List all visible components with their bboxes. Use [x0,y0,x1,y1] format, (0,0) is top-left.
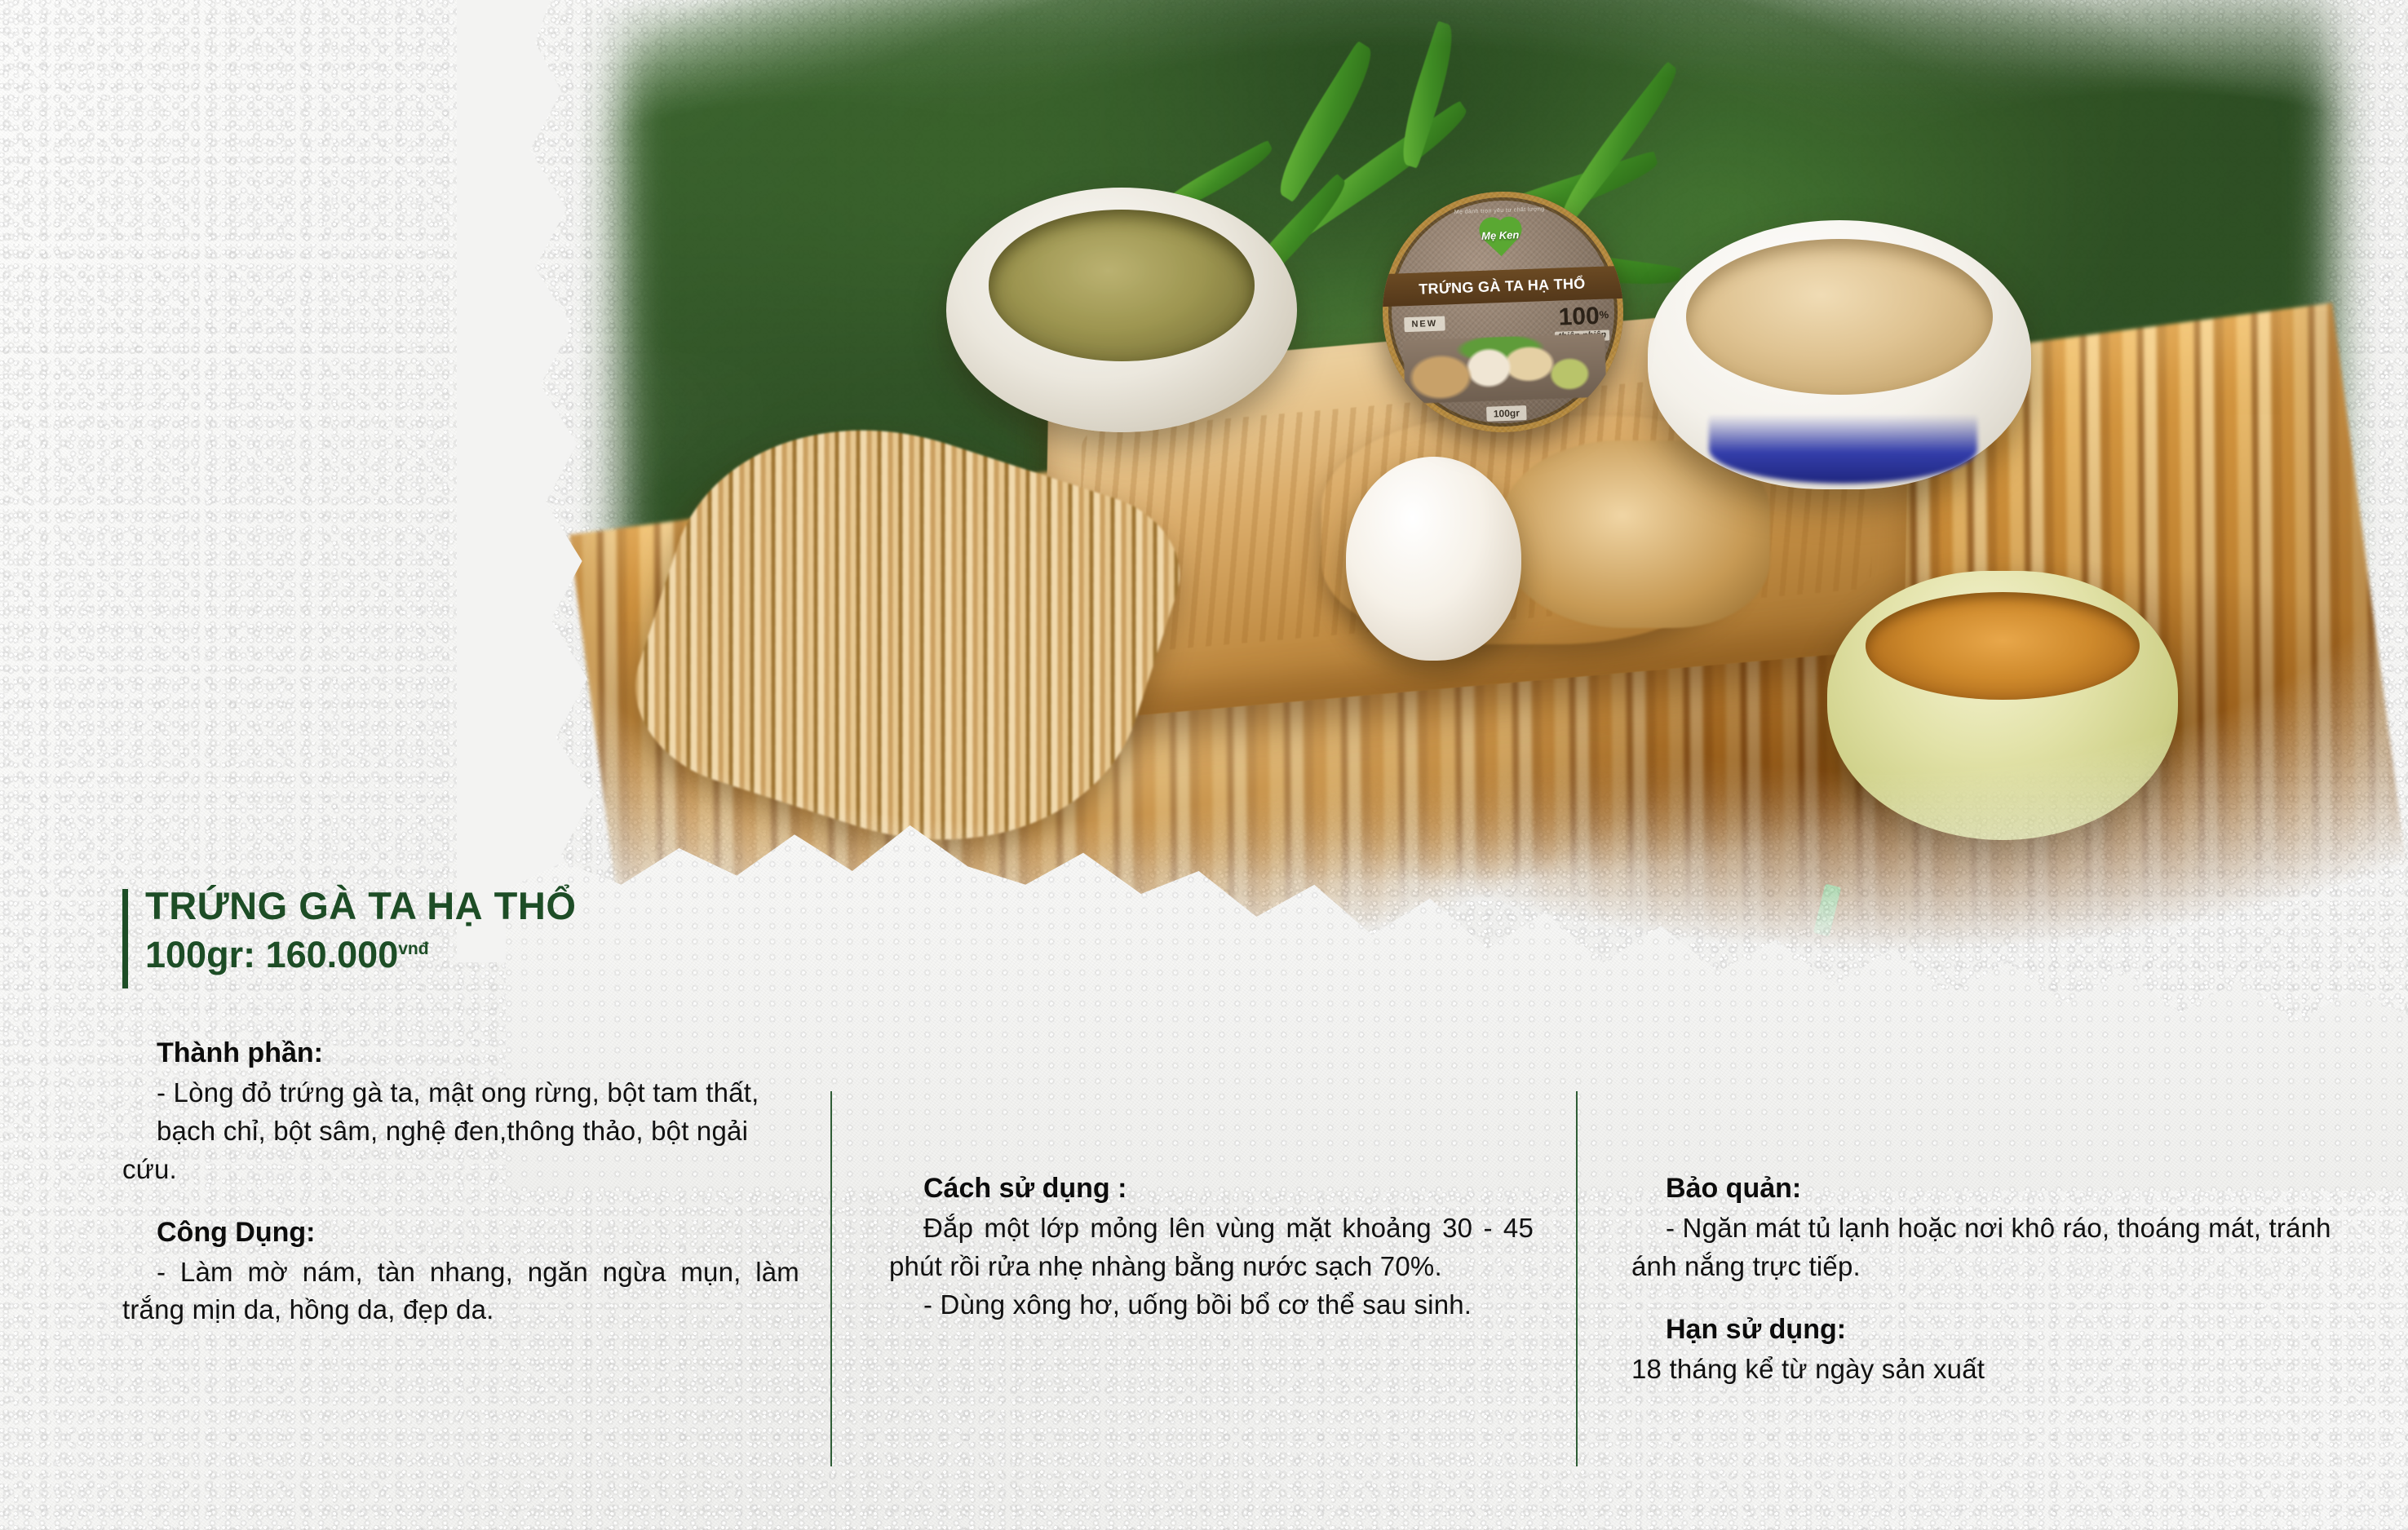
price-value: 100gr: 160.000 [145,934,398,975]
title-accent-bar [122,889,128,988]
tin-ingredient-photo [1403,334,1607,405]
benefits-line-1: - Làm mờ nám, tàn nhang, ngăn ngừa mụn, … [122,1254,799,1330]
tin-product-name: TRỨNG GÀ TA HẠ THỔ [1419,275,1586,298]
expiry-line-1: 18 tháng kể từ ngày sản xuất [1631,1351,2349,1389]
product-tin: Mẹ dành trọn yêu tư chất lượng Mẹ Ken TR… [1379,188,1627,436]
honey-jade-bowl [1827,571,2178,840]
tin-natural-number: 100 [1558,303,1600,331]
storage-line-1: - Ngăn mát tủ lạnh hoặc nơi khô ráo, tho… [1631,1209,2349,1286]
column-divider-left [830,1091,832,1466]
column-usage: Cách sử dụng : Đắp một lớp mỏng lên vùng… [889,1173,1534,1324]
column-storage-expiry: Bảo quản: - Ngăn mát tủ lạnh hoặc nơi kh… [1631,1173,2349,1389]
ingredients-line-2: bạch chỉ, bột sâm, nghệ đen,thông thảo, … [122,1112,799,1189]
usage-line-1: Đắp một lớp mỏng lên vùng mặt khoảng 30 … [889,1209,1534,1286]
storage-heading: Bảo quản: [1666,1173,2349,1205]
white-egg [1346,457,1521,661]
product-price: 100gr: 160.000vnđ [145,934,576,976]
tan-powder-bowl [1648,220,2031,489]
tin-new-badge: NEW [1404,316,1445,333]
benefits-heading: Công Dụng: [157,1217,799,1249]
section-spacer [122,1189,799,1217]
column-divider-right [1576,1091,1578,1466]
tin-product-band: TRỨNG GÀ TA HẠ THỔ [1381,266,1622,307]
ingredients-line-1: - Lòng đỏ trứng gà ta, mật ong rừng, bột… [122,1074,799,1112]
product-title: TRỨNG GÀ TA HẠ THỔ [145,882,576,929]
tin-weight-value: 100gr [1487,405,1527,422]
tin-percent-symbol: % [1599,308,1609,321]
green-herb-powder-bowl [946,188,1297,432]
product-title-block: TRỨNG GÀ TA HẠ THỔ 100gr: 160.000vnđ [122,882,576,976]
ingredients-heading: Thành phần: [157,1037,799,1069]
usage-line-2: - Dùng xông hơ, uống bồi bổ cơ thể sau s… [889,1286,1534,1324]
column-ingredients-benefits: Thành phần: - Lòng đỏ trứng gà ta, mật o… [122,1037,799,1329]
tin-weight-badge: 100gr [1386,402,1627,425]
usage-heading: Cách sử dụng : [923,1173,1534,1205]
price-currency: vnđ [398,940,428,958]
section-spacer [1631,1286,2349,1314]
expiry-heading: Hạn sử dụng: [1666,1314,2349,1346]
